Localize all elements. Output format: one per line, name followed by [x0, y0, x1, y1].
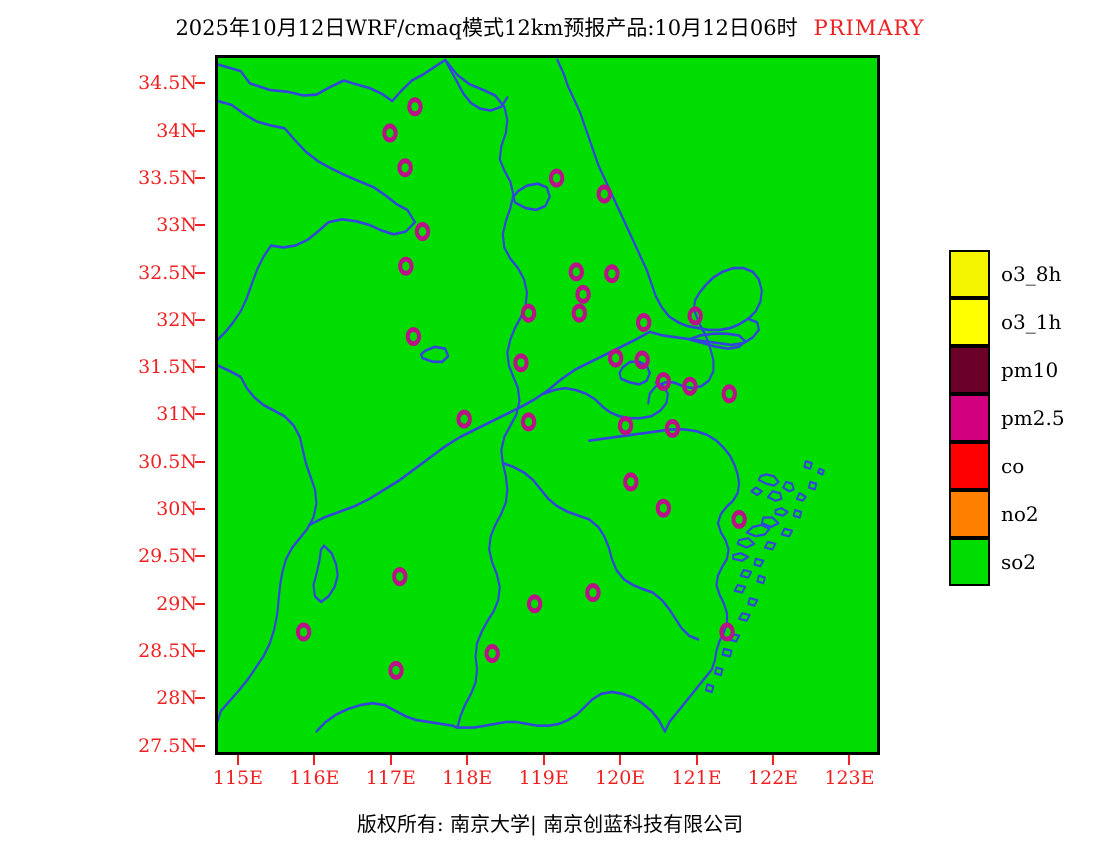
map-plot-area[interactable] — [215, 55, 880, 755]
y-tick-label-33N: 33N — [156, 214, 197, 236]
legend-label-co: co — [1001, 454, 1024, 478]
y-tick-label-27.5N: 27.5N — [138, 735, 197, 757]
station-marker[interactable] — [658, 375, 669, 389]
y-tick-label-28N: 28N — [156, 687, 197, 709]
x-tick-mark — [543, 755, 545, 765]
x-tick-label-115E: 115E — [213, 767, 263, 789]
legend-label-so2: so2 — [1001, 550, 1036, 574]
legend-swatch-o3_8h — [949, 250, 990, 298]
x-tick-mark — [466, 755, 468, 765]
y-tick-label-31.5N: 31.5N — [138, 356, 197, 378]
y-tick-label-32.5N: 32.5N — [138, 262, 197, 284]
station-marker[interactable] — [409, 100, 420, 114]
legend-swatch-no2 — [949, 490, 990, 538]
y-tick-label-29.5N: 29.5N — [138, 545, 197, 567]
y-tick-label-33.5N: 33.5N — [138, 167, 197, 189]
x-tick-label-121E: 121E — [671, 767, 721, 789]
lake-poyang — [313, 546, 337, 602]
y-tick-mark — [195, 650, 205, 652]
legend-label-o3_8h: o3_8h — [1001, 262, 1061, 286]
legend-row-no2[interactable]: no2 — [949, 490, 1094, 538]
border-south-anhui-jiangxi — [316, 703, 457, 731]
legend-label-pm10: pm10 — [1001, 358, 1058, 382]
station-marker[interactable] — [724, 387, 735, 401]
station-marker[interactable] — [458, 412, 469, 426]
station-marker[interactable] — [625, 475, 636, 489]
station-marker[interactable] — [400, 259, 411, 273]
zhoushan-islands — [706, 461, 824, 692]
x-tick-label-117E: 117E — [366, 767, 416, 789]
x-tick-label-116E: 116E — [289, 767, 339, 789]
x-tick-label-122E: 122E — [748, 767, 798, 789]
border-anhui-west — [218, 246, 271, 340]
y-tick-mark — [195, 745, 205, 747]
legend-label-o3_1h: o3_1h — [1001, 310, 1061, 334]
y-tick-mark — [195, 319, 205, 321]
y-tick-label-30N: 30N — [156, 498, 197, 520]
x-tick-mark — [772, 755, 774, 765]
station-marker[interactable] — [384, 126, 395, 140]
title-primary-text: PRIMARY — [814, 16, 925, 40]
y-tick-mark — [195, 224, 205, 226]
legend-swatch-o3_1h — [949, 298, 990, 346]
legend-label-pm2.5: pm2.5 — [1001, 406, 1065, 430]
border-xuzhou-local — [445, 60, 507, 111]
x-axis: 115E116E117E118E119E120E121E122E123E — [215, 755, 880, 800]
legend-row-pm2.5[interactable]: pm2.5 — [949, 394, 1094, 442]
border-anhui-jiangxi-west — [218, 366, 316, 721]
station-marker[interactable] — [574, 306, 585, 320]
station-marker[interactable] — [523, 306, 534, 320]
station-marker[interactable] — [733, 512, 744, 526]
x-tick-mark — [237, 755, 239, 765]
border-shandong-jiangsu — [218, 60, 445, 101]
station-marker[interactable] — [571, 265, 582, 279]
x-tick-label-118E: 118E — [442, 767, 492, 789]
island-chongming — [689, 334, 745, 349]
map-geography-svg — [218, 58, 877, 752]
station-marker[interactable] — [610, 351, 621, 365]
station-marker[interactable] — [487, 646, 498, 660]
x-tick-mark — [848, 755, 850, 765]
copyright-footer: 版权所有: 南京大学| 南京创蓝科技有限公司 — [0, 808, 1100, 837]
river-yangtze — [309, 332, 650, 525]
y-tick-mark — [195, 697, 205, 699]
x-tick-label-119E: 119E — [519, 767, 569, 789]
y-tick-mark — [195, 555, 205, 557]
page-title: 2025年10月12日WRF/cmaq模式12km预报产品:10月12日06时P… — [0, 12, 1100, 42]
station-marker[interactable] — [638, 315, 649, 329]
station-marker[interactable] — [587, 586, 598, 600]
y-tick-label-28.5N: 28.5N — [138, 640, 197, 662]
legend-row-o3_8h[interactable]: o3_8h — [949, 250, 1094, 298]
legend-row-co[interactable]: co — [949, 442, 1094, 490]
legend-swatch-co — [949, 442, 990, 490]
station-marker[interactable] — [721, 625, 732, 639]
lake-hongze — [513, 184, 549, 210]
y-tick-mark — [195, 272, 205, 274]
y-tick-mark — [195, 177, 205, 179]
title-main-text: 2025年10月12日WRF/cmaq模式12km预报产品:10月12日06时 — [175, 16, 797, 40]
station-marker[interactable] — [637, 353, 648, 367]
x-tick-mark — [619, 755, 621, 765]
y-tick-mark — [195, 461, 205, 463]
station-marker[interactable] — [599, 187, 610, 201]
y-axis: 27.5N28N28.5N29N29.5N30N30.5N31N31.5N32N… — [0, 55, 205, 755]
lake-chaohu — [421, 347, 448, 362]
station-marker[interactable] — [298, 625, 309, 639]
station-marker[interactable] — [390, 663, 401, 677]
legend-label-no2: no2 — [1001, 502, 1039, 526]
station-marker[interactable] — [606, 267, 617, 281]
border-jiangsu-anhui — [445, 60, 527, 728]
coastline-hangzhou-bay — [589, 429, 739, 506]
border-anhui-north — [218, 101, 415, 247]
x-tick-label-120E: 120E — [595, 767, 645, 789]
station-marker[interactable] — [577, 287, 588, 301]
x-tick-mark — [390, 755, 392, 765]
station-marker[interactable] — [394, 570, 405, 584]
y-tick-label-32N: 32N — [156, 309, 197, 331]
y-tick-mark — [195, 82, 205, 84]
station-marker[interactable] — [529, 597, 540, 611]
y-tick-label-34.5N: 34.5N — [138, 72, 197, 94]
station-marker[interactable] — [658, 501, 669, 515]
y-tick-mark — [195, 130, 205, 132]
legend-swatch-pm2.5 — [949, 394, 990, 442]
station-marker[interactable] — [417, 224, 428, 238]
legend-swatch-pm10 — [949, 346, 990, 394]
border-anhui-zhejiang — [503, 463, 698, 639]
border-zhejiang-inland — [457, 692, 665, 731]
station-marker[interactable] — [684, 379, 695, 393]
station-marker[interactable] — [399, 161, 410, 175]
station-marker[interactable] — [408, 330, 419, 344]
pollutant-legend: o3_8ho3_1hpm10pm2.5cono2so2 — [949, 250, 1094, 586]
y-tick-mark — [195, 508, 205, 510]
station-marker[interactable] — [551, 171, 562, 185]
legend-swatch-so2 — [949, 538, 990, 586]
legend-row-o3_1h[interactable]: o3_1h — [949, 298, 1094, 346]
x-tick-mark — [313, 755, 315, 765]
station-marker[interactable] — [620, 419, 631, 433]
station-marker[interactable] — [515, 356, 526, 370]
x-tick-label-123E: 123E — [824, 767, 874, 789]
station-marker[interactable] — [523, 415, 534, 429]
y-tick-mark — [195, 603, 205, 605]
station-marker-layer — [298, 100, 745, 678]
y-tick-label-29N: 29N — [156, 593, 197, 615]
y-tick-label-30.5N: 30.5N — [138, 451, 197, 473]
x-tick-mark — [696, 755, 698, 765]
legend-row-pm10[interactable]: pm10 — [949, 346, 1094, 394]
y-tick-label-34N: 34N — [156, 120, 197, 142]
y-tick-mark — [195, 413, 205, 415]
y-tick-label-31N: 31N — [156, 403, 197, 425]
legend-row-so2[interactable]: so2 — [949, 538, 1094, 586]
y-tick-mark — [195, 366, 205, 368]
